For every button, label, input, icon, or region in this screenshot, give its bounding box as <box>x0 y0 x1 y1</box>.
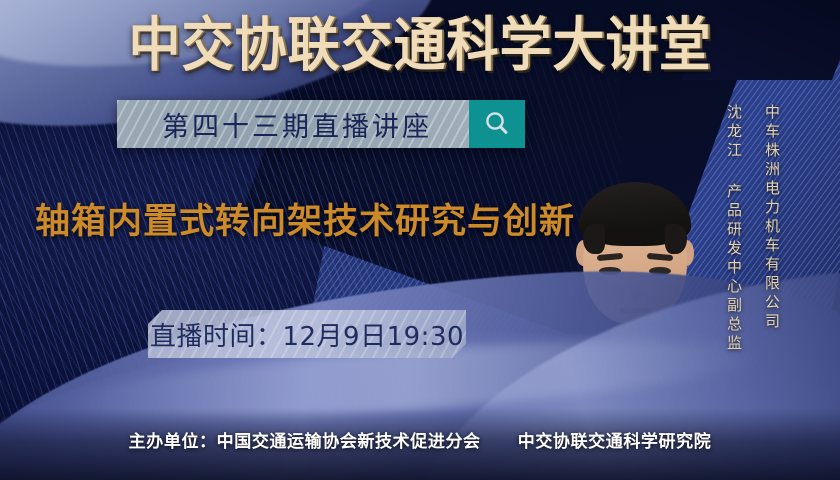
search-icon <box>482 109 512 139</box>
footer-organizer-primary: 主办单位：中国交通运输协会新技术促进分会 <box>129 432 481 452</box>
poster-content: 中交协联交通科学大讲堂 第四十三期直播讲座 轴箱内置式转向架技术研究与创新 直播… <box>0 0 840 480</box>
footer-organizer-secondary: 中交协联交通科学研究院 <box>518 432 712 452</box>
speaker-company: 中车株洲电力机车有限公司 <box>762 104 783 332</box>
main-title: 中交协联交通科学大讲堂 <box>0 12 840 79</box>
live-time-pill: 直播时间：12月9日19:30 <box>148 310 466 358</box>
subtitle-bar: 第四十三期直播讲座 <box>117 100 525 148</box>
speaker-name-title: 沈龙江 产品研发中心副总监 <box>724 104 745 354</box>
footer-organizers: 主办单位：中国交通运输协会新技术促进分会 中交协联交通科学研究院 <box>0 427 840 452</box>
live-stream-poster: 中交协联交通科学大讲堂 第四十三期直播讲座 轴箱内置式转向架技术研究与创新 直播… <box>0 0 840 480</box>
subtitle-strip: 第四十三期直播讲座 <box>117 100 469 148</box>
subtitle-label: 第四十三期直播讲座 <box>154 105 432 144</box>
live-time-text: 直播时间：12月9日19:30 <box>150 316 464 353</box>
topic-title: 轴箱内置式转向架技术研究与创新 <box>35 200 575 244</box>
search-icon-box[interactable] <box>469 100 525 148</box>
